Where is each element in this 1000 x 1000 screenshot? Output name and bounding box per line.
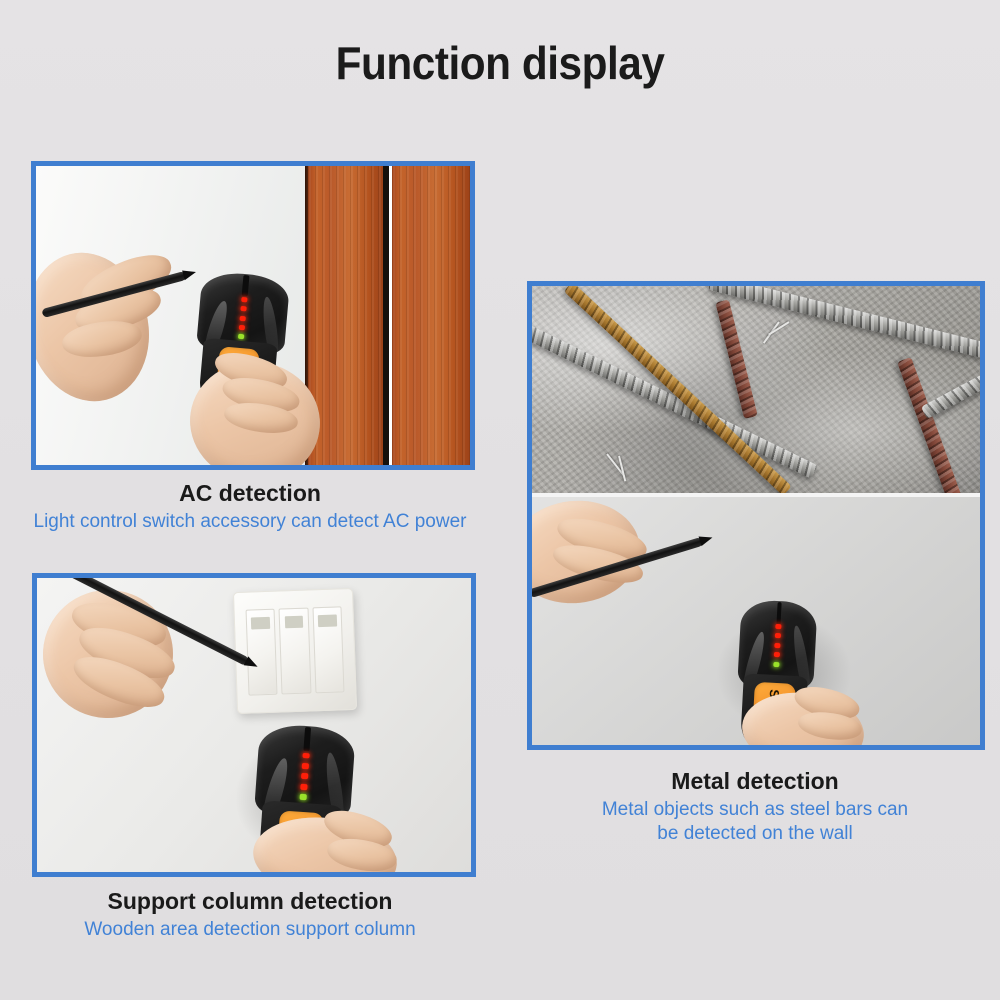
- photo-ac-detection: STUD: [36, 166, 470, 465]
- led-red: [302, 752, 309, 758]
- led-red: [239, 325, 245, 331]
- caption-subtitle: Light control switch accessory can detec…: [0, 510, 500, 534]
- led-red: [301, 773, 308, 779]
- light-switch-plate: [233, 588, 357, 714]
- caption-subtitle-line-2: be detected on the wall: [520, 822, 990, 846]
- led-red: [774, 642, 780, 647]
- led-red: [774, 652, 780, 657]
- caption-title: Support column detection: [0, 888, 500, 914]
- caption-title: AC detection: [0, 480, 500, 506]
- panel-support-column-detection: STUD: [32, 573, 476, 877]
- led-red: [302, 763, 309, 769]
- led-red: [775, 633, 781, 638]
- led-red: [241, 297, 247, 303]
- led-red: [240, 306, 246, 312]
- caption-subtitle: Wooden area detection support column: [0, 918, 500, 942]
- led-red: [775, 623, 781, 628]
- wood-panel-right: [392, 166, 470, 465]
- caption-support-column-detection: Support column detection Wooden area det…: [0, 888, 500, 942]
- panel-metal-detection: STUD FI: [527, 281, 985, 750]
- wood-panel-gap: [383, 166, 389, 465]
- infographic-page: Function display: [0, 0, 1000, 1000]
- light-switch-rocker-2[interactable]: [279, 607, 312, 694]
- page-title: Function display: [40, 36, 960, 90]
- caption-title: Metal detection: [520, 768, 990, 794]
- light-switch-rocker-3[interactable]: [312, 606, 345, 693]
- caption-ac-detection: AC detection Light control switch access…: [0, 480, 500, 534]
- led-red: [300, 784, 307, 790]
- panel-ac-detection: STUD: [31, 161, 475, 470]
- light-switch-rockers: [245, 606, 345, 696]
- caption-metal-detection: Metal detection Metal objects such as st…: [520, 768, 990, 846]
- led-green: [773, 661, 779, 666]
- wooden-door-panels: [305, 166, 470, 465]
- caption-subtitle-line-1: Metal objects such as steel bars can: [520, 798, 990, 822]
- led-green: [300, 794, 307, 800]
- photo-rebar-in-concrete: [532, 286, 980, 493]
- led-green: [238, 334, 244, 340]
- photo-metal-detection-wall: STUD FI: [532, 497, 980, 745]
- photo-support-column-detection: STUD: [37, 578, 471, 872]
- light-switch-rocker-1[interactable]: [245, 608, 278, 695]
- led-red: [240, 316, 246, 322]
